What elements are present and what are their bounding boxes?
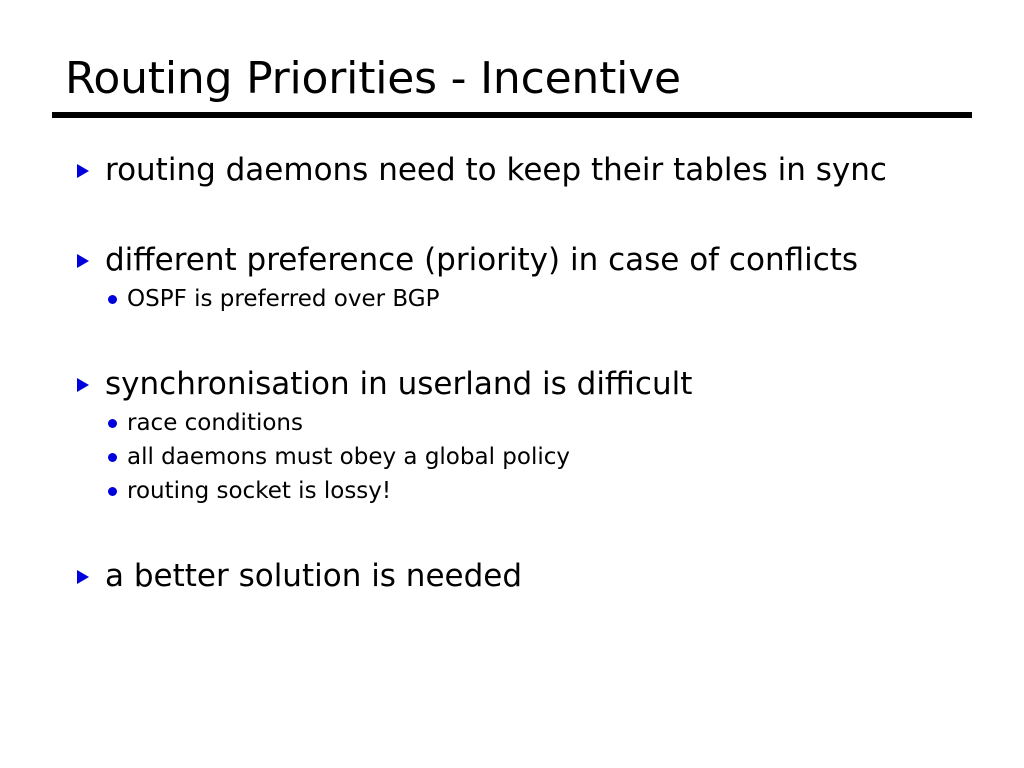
bullet-block: routing daemons need to keep their table…: [0, 148, 1024, 192]
title-underline-rule: [52, 112, 972, 118]
bullet-level2: all daemons must obey a global policy: [0, 440, 1024, 474]
bullet-block: synchronisation in userland is difficult…: [0, 362, 1024, 508]
bullet-level2-label: race conditions: [127, 410, 303, 436]
slide-body: routing daemons need to keep their table…: [0, 148, 1024, 598]
bullet-level1-label: a better solution is needed: [105, 558, 522, 594]
bullet-level2: race conditions: [0, 406, 1024, 440]
round-dot-bullet-icon: [108, 282, 120, 316]
triangle-right-bullet-icon: [77, 238, 95, 282]
triangle-right-bullet-icon: [77, 554, 95, 598]
bullet-level1-label: routing daemons need to keep their table…: [105, 152, 887, 188]
bullet-level1: different preference (priority) in case …: [0, 238, 1024, 282]
bullet-level1-label: synchronisation in userland is difficult: [105, 366, 692, 402]
bullet-block: a better solution is needed: [0, 554, 1024, 598]
bullet-level1: synchronisation in userland is difficult: [0, 362, 1024, 406]
triangle-right-bullet-icon: [77, 362, 95, 406]
bullet-level1-label: different preference (priority) in case …: [105, 242, 858, 278]
bullet-level2: OSPF is preferred over BGP: [0, 282, 1024, 316]
round-dot-bullet-icon: [108, 440, 120, 474]
round-dot-bullet-icon: [108, 406, 120, 440]
bullet-level2-label: routing socket is lossy!: [127, 478, 391, 504]
bullet-level2: routing socket is lossy!: [0, 474, 1024, 508]
bullet-level1: routing daemons need to keep their table…: [0, 148, 1024, 192]
bullet-level2-label: all daemons must obey a global policy: [127, 444, 570, 470]
bullet-level1: a better solution is needed: [0, 554, 1024, 598]
presentation-slide: Routing Priorities - Incentive routing d…: [0, 0, 1024, 768]
round-dot-bullet-icon: [108, 474, 120, 508]
bullet-level2-label: OSPF is preferred over BGP: [127, 286, 439, 312]
slide-title: Routing Priorities - Incentive: [65, 52, 681, 106]
bullet-block: different preference (priority) in case …: [0, 238, 1024, 316]
triangle-right-bullet-icon: [77, 148, 95, 192]
